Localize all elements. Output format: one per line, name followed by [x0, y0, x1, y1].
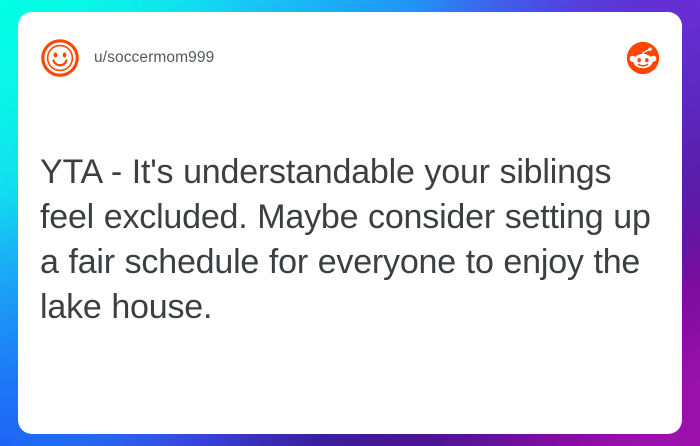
- reddit-snoo-icon: [626, 41, 660, 75]
- screenshot-stage: u/soccermom999 YTA - It's understandable…: [0, 0, 700, 446]
- username-label: u/soccermom999: [94, 49, 214, 67]
- comment-header: u/soccermom999: [18, 12, 682, 104]
- smiley-face-avatar-icon: [40, 38, 80, 78]
- reddit-comment-card: u/soccermom999 YTA - It's understandable…: [18, 12, 682, 434]
- comment-text: YTA - It's understandable your siblings …: [40, 150, 656, 330]
